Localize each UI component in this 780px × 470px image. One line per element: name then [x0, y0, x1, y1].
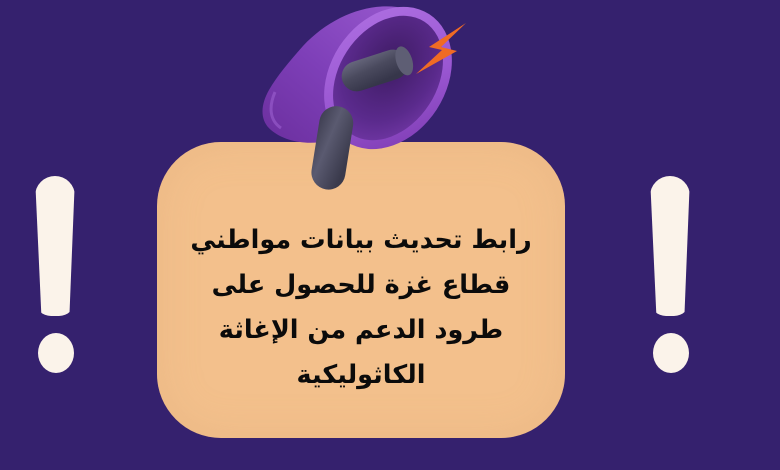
lightning-bolt-icon [410, 18, 472, 80]
exclamation-stem-left [35, 176, 75, 316]
message-line-1: رابط تحديث بيانات مواطني [175, 218, 547, 263]
message-line-3: طرود الدعم من الإغاثة [175, 308, 547, 353]
exclamation-dot-left [38, 333, 74, 373]
message-line-4: الكاثوليكية [175, 353, 547, 398]
message-text: رابط تحديث بيانات مواطني قطاع غزة للحصول… [157, 218, 565, 398]
exclamation-mark-icon-right [648, 176, 694, 376]
announcement-poster: رابط تحديث بيانات مواطني قطاع غزة للحصول… [0, 0, 780, 470]
lightning-bolt-shape [416, 23, 466, 74]
exclamation-mark-icon-left [33, 176, 79, 376]
message-line-2: قطاع غزة للحصول على [175, 263, 547, 308]
exclamation-dot-right [653, 333, 689, 373]
exclamation-stem-right [650, 176, 690, 316]
